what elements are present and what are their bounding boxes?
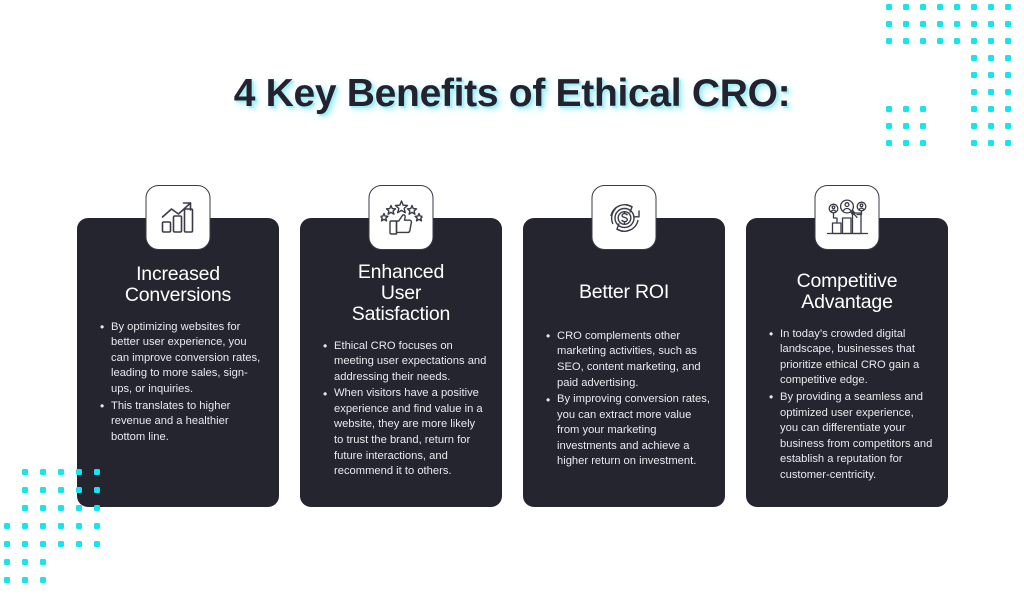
decor-dot-empty bbox=[954, 123, 960, 129]
benefit-cards-row: Increased ConversionsBy optimizing websi… bbox=[77, 185, 949, 507]
decor-dot bbox=[954, 4, 960, 10]
decor-dot bbox=[40, 487, 46, 493]
decor-dot-empty bbox=[4, 487, 10, 493]
decor-dot bbox=[58, 541, 64, 547]
decor-dot bbox=[22, 505, 28, 511]
decor-dot bbox=[1005, 140, 1011, 146]
decor-dot bbox=[22, 559, 28, 565]
decor-dot-empty bbox=[937, 55, 943, 61]
decor-dot bbox=[988, 4, 994, 10]
benefit-bullet-list: By optimizing websites for better user e… bbox=[90, 320, 266, 446]
decor-dot-empty bbox=[94, 577, 100, 583]
decor-dot bbox=[920, 38, 926, 44]
decor-dot bbox=[937, 38, 943, 44]
decor-dot-empty bbox=[76, 577, 82, 583]
benefit-card: Increased ConversionsBy optimizing websi… bbox=[77, 185, 279, 507]
decor-dot bbox=[988, 55, 994, 61]
decor-dot bbox=[886, 123, 892, 129]
decor-dot bbox=[40, 523, 46, 529]
decor-dot bbox=[1005, 21, 1011, 27]
decor-dot bbox=[58, 469, 64, 475]
benefit-bullet-item: Ethical CRO focuses on meeting user expe… bbox=[323, 339, 487, 386]
decor-dot bbox=[903, 140, 909, 146]
decor-dot-empty bbox=[58, 559, 64, 565]
decor-dot bbox=[988, 140, 994, 146]
decor-dot bbox=[903, 123, 909, 129]
decor-dot bbox=[22, 487, 28, 493]
decor-dot-empty bbox=[954, 55, 960, 61]
benefit-bullet-item: By optimizing websites for better user e… bbox=[100, 320, 264, 398]
decor-dot bbox=[22, 523, 28, 529]
decor-dot-empty bbox=[903, 55, 909, 61]
decor-dot bbox=[988, 123, 994, 129]
decor-dot bbox=[971, 55, 977, 61]
decor-dot bbox=[40, 505, 46, 511]
decor-dot bbox=[903, 21, 909, 27]
benefit-bullet-item: When visitors have a positive experience… bbox=[323, 386, 487, 479]
decor-dot-empty bbox=[112, 541, 118, 547]
benefit-card: Enhanced User SatisfactionEthical CRO fo… bbox=[300, 185, 502, 507]
benefit-bullet-item: This translates to higher revenue and a … bbox=[100, 399, 264, 446]
decor-dot bbox=[886, 38, 892, 44]
decor-dot bbox=[920, 4, 926, 10]
decor-dot bbox=[1005, 38, 1011, 44]
decor-dot-empty bbox=[112, 523, 118, 529]
decor-dot bbox=[971, 140, 977, 146]
decor-dot bbox=[920, 21, 926, 27]
benefit-card-body: Competitive AdvantageIn today’s crowded … bbox=[746, 218, 948, 507]
decor-dot-empty bbox=[94, 559, 100, 565]
benefit-bullet-list: In today’s crowded digital landscape, bu… bbox=[759, 327, 935, 484]
decor-dot bbox=[920, 140, 926, 146]
decor-dot-empty bbox=[937, 140, 943, 146]
decor-dot-empty bbox=[76, 559, 82, 565]
decor-dot bbox=[40, 469, 46, 475]
benefit-bullet-item: CRO complements other marketing activiti… bbox=[546, 329, 710, 391]
decor-dot bbox=[903, 38, 909, 44]
decor-dot bbox=[903, 4, 909, 10]
benefit-bullet-item: By improving conversion rates, you can e… bbox=[546, 392, 710, 470]
decor-dot bbox=[886, 140, 892, 146]
decor-dot bbox=[76, 541, 82, 547]
benefit-card-title: Competitive Advantage bbox=[759, 271, 935, 313]
benefit-bullet-list: CRO complements other marketing activiti… bbox=[536, 329, 712, 470]
decor-dot bbox=[40, 559, 46, 565]
dollar-cycle-roi-icon bbox=[592, 185, 657, 250]
decor-dot bbox=[58, 505, 64, 511]
decor-dot bbox=[94, 541, 100, 547]
decor-dot bbox=[4, 559, 10, 565]
benefit-bullet-item: In today’s crowded digital landscape, bu… bbox=[769, 327, 933, 389]
decor-dot bbox=[22, 469, 28, 475]
decor-dot bbox=[988, 38, 994, 44]
decor-dot bbox=[937, 21, 943, 27]
decor-dot bbox=[1005, 4, 1011, 10]
decor-dot bbox=[937, 4, 943, 10]
benefit-card: Competitive AdvantageIn today’s crowded … bbox=[746, 185, 948, 507]
decor-dot bbox=[971, 4, 977, 10]
benefit-card-body: Better ROICRO complements other marketin… bbox=[523, 218, 725, 507]
decor-dot bbox=[954, 21, 960, 27]
decor-dot bbox=[4, 577, 10, 583]
benefit-card-body: Increased ConversionsBy optimizing websi… bbox=[77, 218, 279, 507]
decor-dot bbox=[920, 123, 926, 129]
decor-dot bbox=[971, 123, 977, 129]
decor-dot-empty bbox=[112, 577, 118, 583]
decor-dot bbox=[76, 523, 82, 529]
benefit-card-title: Increased Conversions bbox=[90, 264, 266, 306]
decor-dot bbox=[22, 541, 28, 547]
users-magnifier-chart-icon bbox=[815, 185, 880, 250]
decor-dot bbox=[58, 487, 64, 493]
decor-dot bbox=[1005, 123, 1011, 129]
decor-dot-empty bbox=[886, 55, 892, 61]
decor-dot bbox=[22, 577, 28, 583]
benefit-card-body: Enhanced User SatisfactionEthical CRO fo… bbox=[300, 218, 502, 507]
benefit-bullet-item: By providing a seamless and optimized us… bbox=[769, 390, 933, 483]
decor-dot-empty bbox=[954, 140, 960, 146]
bar-chart-growth-icon bbox=[146, 185, 211, 250]
decor-dot bbox=[886, 21, 892, 27]
infographic-canvas: 4 Key Benefits of Ethical CRO: Increased… bbox=[0, 0, 1024, 585]
benefit-card-title: Enhanced User Satisfaction bbox=[313, 262, 489, 325]
decor-dot-empty bbox=[4, 505, 10, 511]
benefit-bullet-list: Ethical CRO focuses on meeting user expe… bbox=[313, 339, 489, 480]
decor-dot bbox=[886, 4, 892, 10]
decor-dot-empty bbox=[920, 55, 926, 61]
benefit-card-title: Better ROI bbox=[536, 282, 712, 303]
decor-dot bbox=[94, 523, 100, 529]
page-title: 4 Key Benefits of Ethical CRO: bbox=[0, 72, 1024, 116]
benefit-card: Better ROICRO complements other marketin… bbox=[523, 185, 725, 507]
decor-dot bbox=[4, 523, 10, 529]
thumbs-up-stars-icon bbox=[369, 185, 434, 250]
decor-dot bbox=[4, 541, 10, 547]
decor-dot-empty bbox=[4, 469, 10, 475]
decor-dot bbox=[988, 21, 994, 27]
decor-dot bbox=[954, 38, 960, 44]
decor-dot-empty bbox=[58, 577, 64, 583]
decor-dot-empty bbox=[112, 559, 118, 565]
decor-dot bbox=[40, 541, 46, 547]
decor-dot bbox=[971, 21, 977, 27]
decor-dot bbox=[40, 577, 46, 583]
decor-dot bbox=[1005, 55, 1011, 61]
decor-dot bbox=[58, 523, 64, 529]
decor-dot bbox=[971, 38, 977, 44]
decor-dot-empty bbox=[937, 123, 943, 129]
